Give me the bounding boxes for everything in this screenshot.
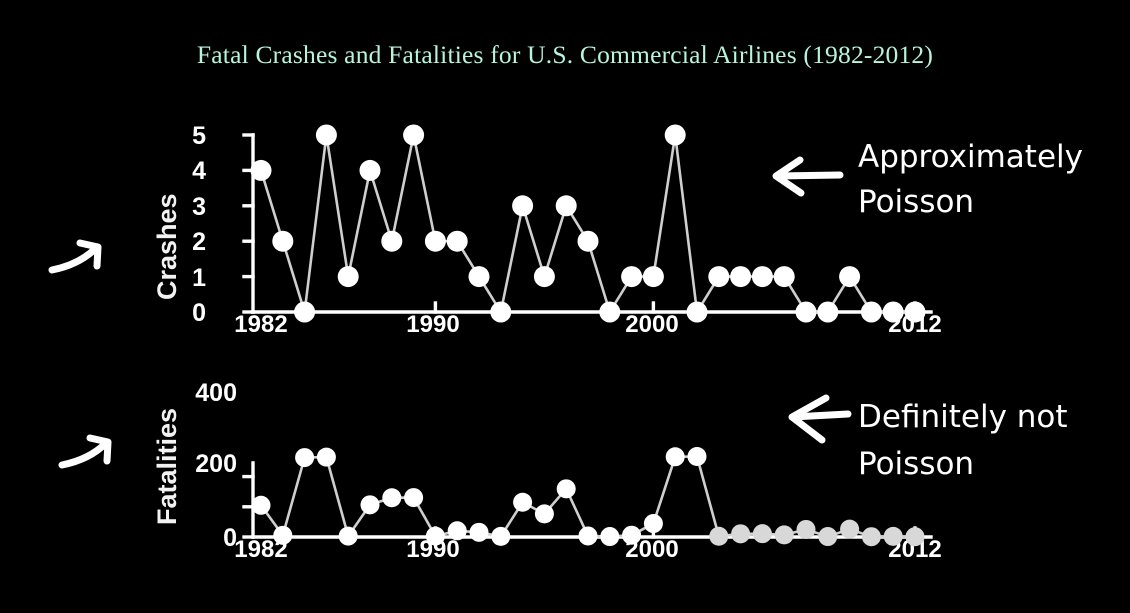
left-arrow-icon	[792, 398, 848, 440]
annotation-arrows	[0, 0, 1130, 613]
chart-canvas: Fatal Crashes and Fatalities for U.S. Co…	[0, 0, 1130, 613]
left-arrow-icon	[776, 160, 840, 193]
curved-right-arrow-icon	[52, 243, 98, 270]
curved-right-arrow-icon	[62, 438, 108, 465]
